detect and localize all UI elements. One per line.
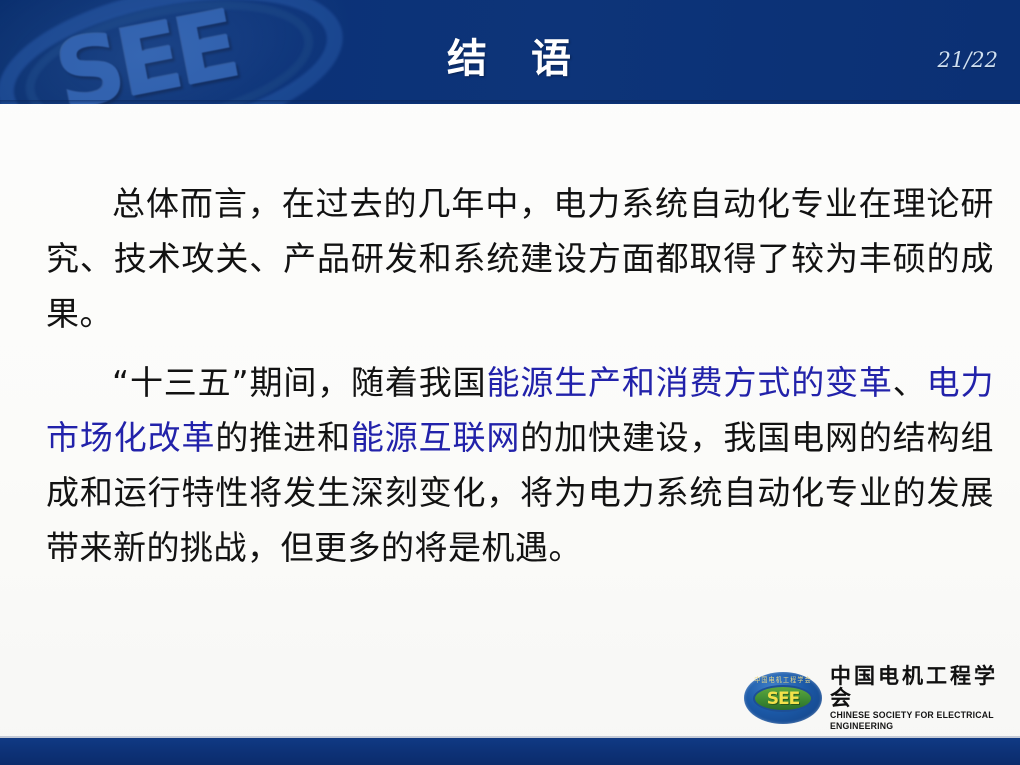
emblem-arc-text: 中国电机工程学会 bbox=[750, 675, 816, 685]
see-emblem-icon: 中国电机工程学会 SEE bbox=[744, 672, 822, 724]
slide-header: SEE 结 语 21/22 bbox=[0, 0, 1020, 104]
header-shadow bbox=[0, 100, 1020, 104]
text-run: “十三五”期间，随着我国 bbox=[112, 363, 486, 402]
logo-name-cn: 中国电机工程学会 bbox=[830, 665, 1006, 709]
text-run: 总体而言，在过去的几年中，电力系统自动化专业在理论研究、技术攻关、产品研发和系统… bbox=[46, 184, 994, 333]
slide-body: 总体而言，在过去的几年中，电力系统自动化专业在理论研究、技术攻关、产品研发和系统… bbox=[46, 176, 994, 585]
society-logo: 中国电机工程学会 SEE 中国电机工程学会 CHINESE SOCIETY FO… bbox=[744, 668, 1006, 728]
bottom-bar bbox=[0, 738, 1020, 765]
highlighted-phrase: 能源互联网 bbox=[351, 418, 520, 457]
logo-name-en: CHINESE SOCIETY FOR ELECTRICAL ENGINEERI… bbox=[830, 710, 1001, 732]
highlighted-phrase: 能源生产和消费方式的变革 bbox=[486, 363, 892, 402]
paragraph-2: “十三五”期间，随着我国能源生产和消费方式的变革、电力市场化改革的推进和能源互联… bbox=[46, 355, 994, 575]
text-run: 的推进和 bbox=[215, 418, 350, 457]
logo-wordmark: 中国电机工程学会 CHINESE SOCIETY FOR ELECTRICAL … bbox=[830, 665, 1006, 732]
paragraph-1: 总体而言，在过去的几年中，电力系统自动化专业在理论研究、技术攻关、产品研发和系统… bbox=[46, 176, 994, 341]
slide-canvas: SEE 结 语 21/22 总体而言，在过去的几年中，电力系统自动化专业在理论研… bbox=[0, 0, 1020, 765]
page-number: 21/22 bbox=[937, 48, 998, 72]
emblem-see-letters: SEE bbox=[744, 685, 822, 712]
text-run: 、 bbox=[893, 363, 927, 402]
page-title: 结 语 bbox=[0, 26, 1020, 84]
